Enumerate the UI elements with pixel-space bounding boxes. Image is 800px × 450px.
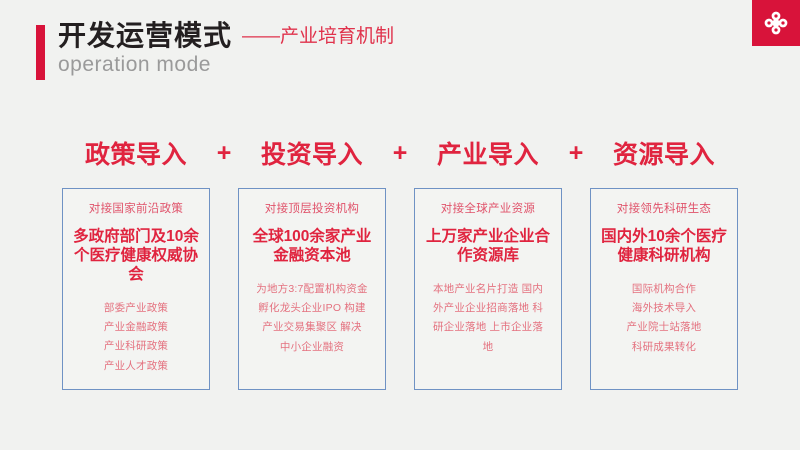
- card-body-line: 外产业企业招商落地 科: [433, 299, 543, 318]
- page-subtitle-en: operation mode: [58, 53, 758, 76]
- category-label-policy: 政策导入: [62, 135, 210, 171]
- card-body-line: 孵化龙头企业IPO 构建: [256, 299, 368, 318]
- card-policy: 对接国家前沿政策 多政府部门及10余个医疗健康权威协会 部委产业政策 产业金融政…: [62, 188, 210, 390]
- card-body-line: 国际机构合作: [627, 280, 702, 299]
- card-body-line: 产业人才政策: [104, 357, 168, 376]
- plus-separator-icon-3: +: [562, 139, 590, 168]
- card-kicker: 对接领先科研生态: [617, 203, 711, 217]
- header-text-block: 开发运营模式——产业培育机制 operation mode: [58, 22, 758, 76]
- brand-logo: [752, 0, 800, 46]
- category-label-investment: 投资导入: [238, 135, 386, 171]
- card-body: 国际机构合作 海外技术导入 产业院士站落地 科研成果转化: [627, 280, 702, 358]
- card-body-line: 产业交易集聚区 解决: [256, 318, 368, 337]
- plus-separator-icon-2: +: [386, 139, 414, 168]
- card-industry: 对接全球产业资源 上万家产业企业合作资源库 本地产业名片打造 国内 外产业企业招…: [414, 188, 562, 390]
- category-label-resource: 资源导入: [590, 135, 738, 171]
- card-body-line: 产业科研政策: [104, 337, 168, 356]
- card-investment: 对接顶层投资机构 全球100余家产业金融资本池 为地方3:7配置机构资金 孵化龙…: [238, 188, 386, 390]
- card-research: 对接领先科研生态 国内外10余个医疗健康科研机构 国际机构合作 海外技术导入 产…: [590, 188, 738, 390]
- category-header-row: 政策导入 + 投资导入 + 产业导入 + 资源导入: [62, 130, 738, 176]
- card-body-line: 研企业落地 上市企业落: [433, 318, 543, 337]
- card-body-line: 中小企业融资: [256, 338, 368, 357]
- quatrefoil-clover-logo-icon: [763, 10, 789, 36]
- category-label-industry: 产业导入: [414, 135, 562, 171]
- card-kicker: 对接顶层投资机构: [265, 203, 359, 217]
- header-title-line: 开发运营模式——产业培育机制: [58, 22, 758, 50]
- card-body: 为地方3:7配置机构资金 孵化龙头企业IPO 构建 产业交易集聚区 解决 中小企…: [256, 280, 368, 358]
- card-body-line: 部委产业政策: [104, 299, 168, 318]
- plus-separator-icon-1: +: [210, 139, 238, 168]
- card-body-line: 科研成果转化: [627, 338, 702, 357]
- card-body-line: 地: [433, 338, 543, 357]
- card-body-line: 海外技术导入: [627, 299, 702, 318]
- page-title: 开发运营模式: [58, 20, 232, 51]
- page-subtitle-cn: ——产业培育机制: [242, 26, 394, 47]
- card-body-line: 为地方3:7配置机构资金: [256, 280, 368, 299]
- card-body-line: 本地产业名片打造 国内: [433, 280, 543, 299]
- card-body-line: 产业院士站落地: [627, 318, 702, 337]
- card-body: 本地产业名片打造 国内 外产业企业招商落地 科 研企业落地 上市企业落 地: [433, 280, 543, 358]
- card-body-line: 产业金融政策: [104, 318, 168, 337]
- card-row: 对接国家前沿政策 多政府部门及10余个医疗健康权威协会 部委产业政策 产业金融政…: [62, 188, 738, 390]
- card-body: 部委产业政策 产业金融政策 产业科研政策 产业人才政策: [104, 299, 168, 377]
- card-title: 多政府部门及10余个医疗健康权威协会: [70, 228, 202, 285]
- card-title: 国内外10余个医疗健康科研机构: [598, 228, 730, 266]
- header-accent-bar: [36, 25, 45, 80]
- card-title: 全球100余家产业金融资本池: [246, 228, 378, 266]
- card-kicker: 对接全球产业资源: [441, 203, 535, 217]
- card-title: 上万家产业企业合作资源库: [422, 228, 554, 266]
- card-kicker: 对接国家前沿政策: [89, 203, 183, 217]
